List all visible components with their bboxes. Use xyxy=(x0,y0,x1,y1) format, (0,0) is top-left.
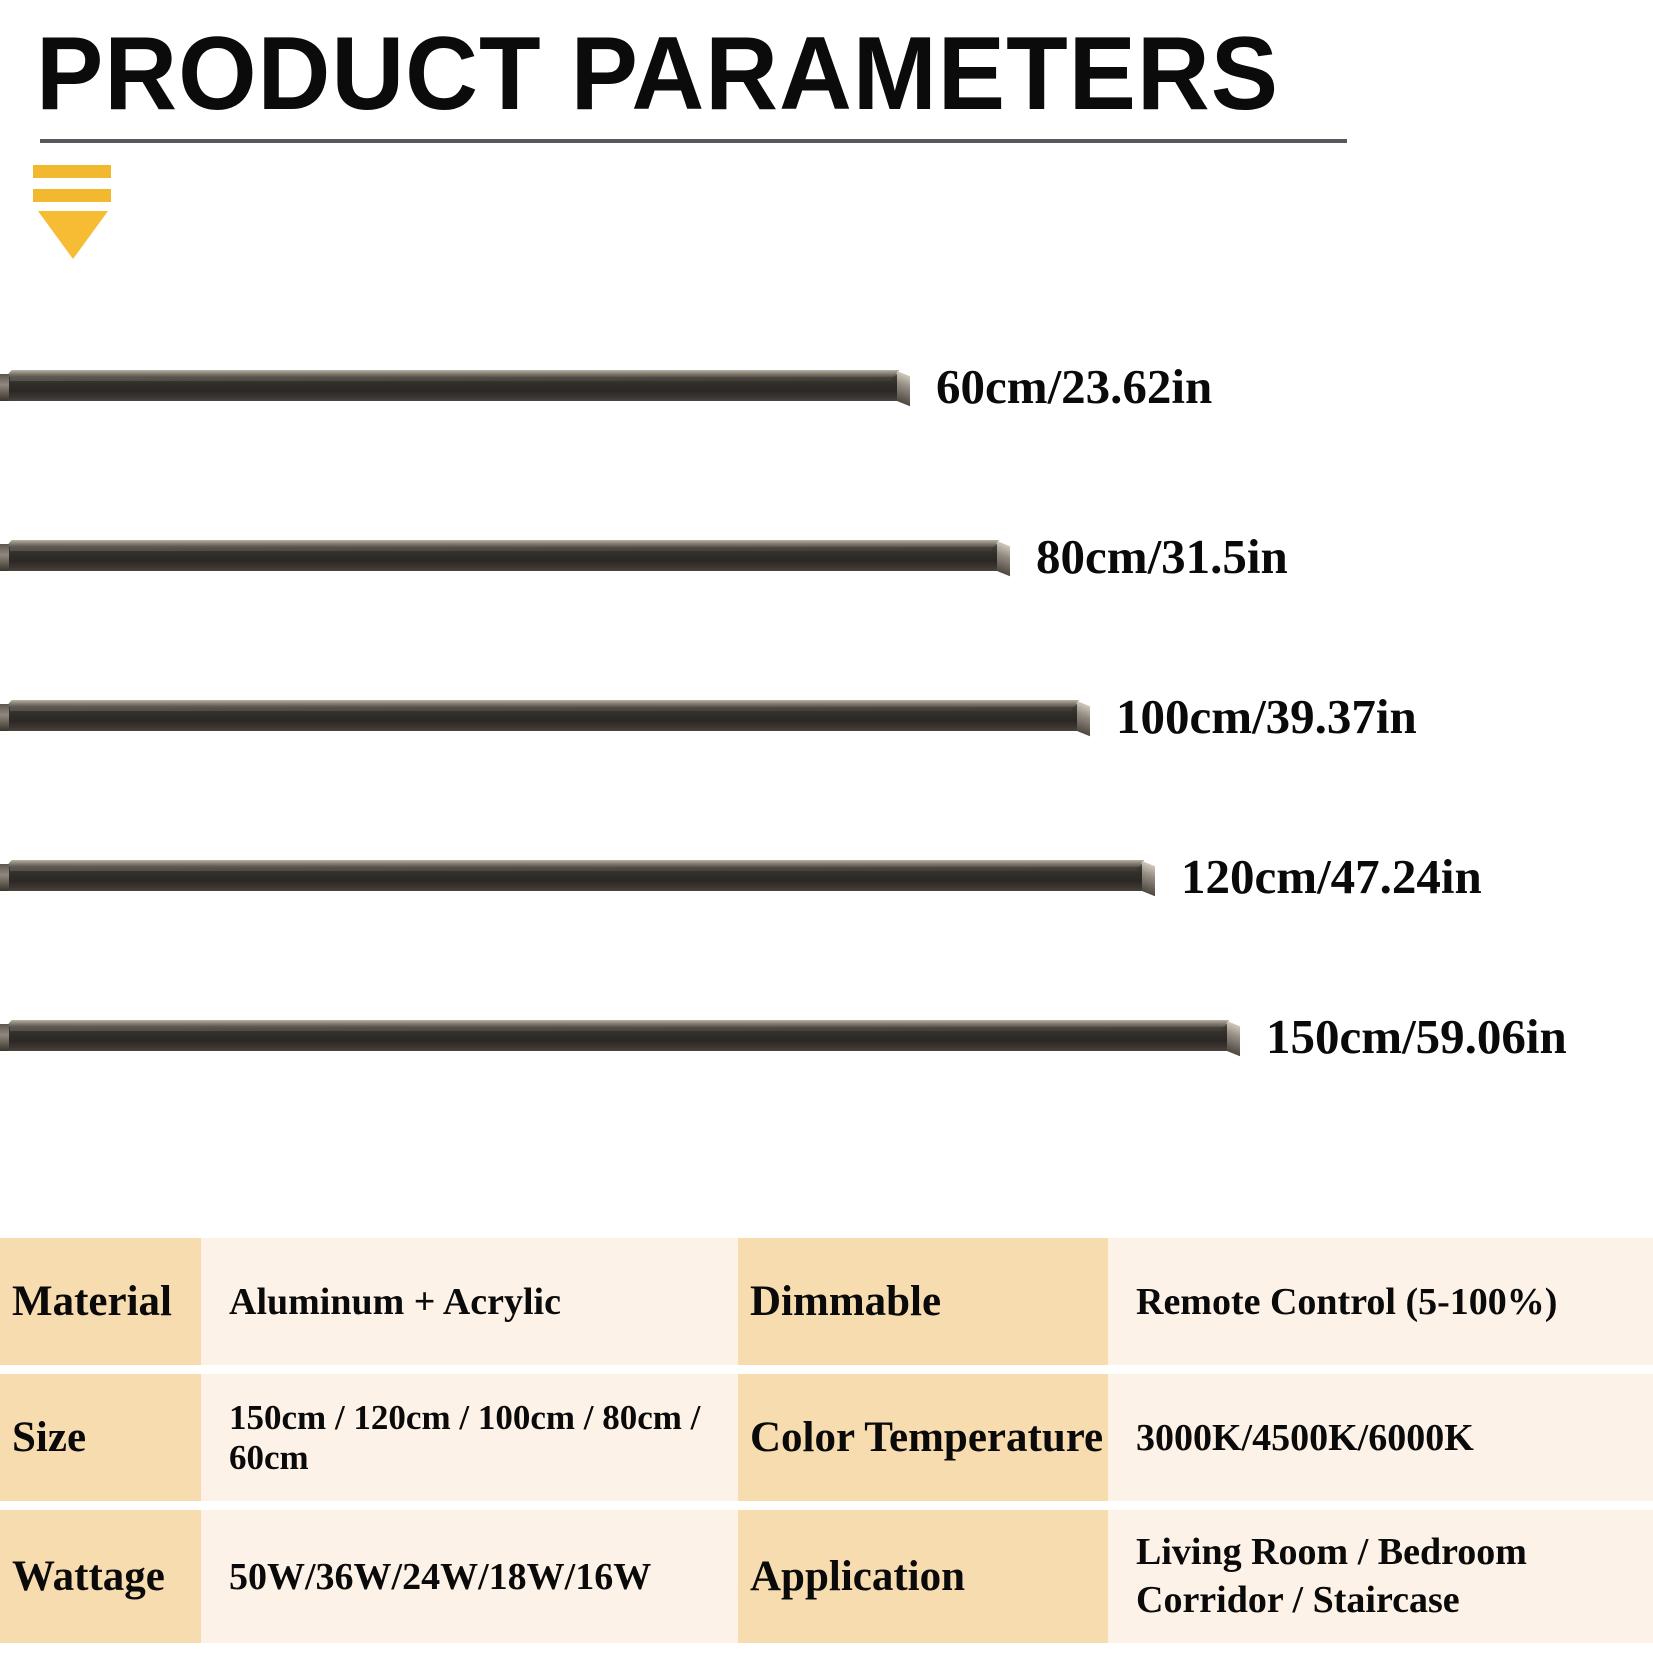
spec-row-wattage: Wattage 50W/36W/24W/18W/16W Application … xyxy=(0,1510,1653,1643)
spec-value-color-temperature: 3000K/4500K/6000K xyxy=(1108,1374,1653,1501)
spec-row-material: Material Aluminum + Acrylic Dimmable Rem… xyxy=(0,1238,1653,1365)
spec-key-wattage: Wattage xyxy=(0,1510,201,1643)
spec-key-size: Size xyxy=(0,1374,201,1501)
spec-key-application: Application xyxy=(738,1510,1108,1643)
size-label: 120cm/47.24in xyxy=(1181,852,1482,901)
spec-value-application: Living Room / Bedroom Corridor / Stairca… xyxy=(1108,1510,1653,1643)
spec-table: Material Aluminum + Acrylic Dimmable Rem… xyxy=(0,1238,1653,1643)
spec-key-dimmable: Dimmable xyxy=(738,1238,1108,1365)
spec-value-application-line2: Corridor / Staircase xyxy=(1136,1580,1527,1621)
ornament-triangle xyxy=(38,211,108,259)
spec-value-material: Aluminum + Acrylic xyxy=(201,1238,738,1365)
light-bar-graphic xyxy=(0,367,910,405)
page-title: PRODUCT PARAMETERS xyxy=(36,22,1279,126)
spec-value-application-line1: Living Room / Bedroom xyxy=(1136,1532,1527,1573)
size-label: 60cm/23.62in xyxy=(936,362,1212,411)
down-arrow-ornament-icon xyxy=(33,165,117,257)
spec-key-material: Material xyxy=(0,1238,201,1365)
size-row: 100cm/39.37in xyxy=(0,686,1653,746)
size-label: 80cm/31.5in xyxy=(1036,532,1288,581)
light-bar-graphic xyxy=(0,697,1090,735)
ornament-bar-bottom xyxy=(33,189,111,202)
size-row: 120cm/47.24in xyxy=(0,846,1653,906)
ornament-bar-top xyxy=(33,165,111,178)
light-bar-graphic xyxy=(0,1017,1240,1055)
spec-key-color-temperature: Color Temperature xyxy=(738,1374,1108,1501)
size-label: 150cm/59.06in xyxy=(1266,1012,1567,1061)
product-parameters-page: PRODUCT PARAMETERS 60cm/23.62in 80cm/31.… xyxy=(0,0,1653,1653)
spec-value-dimmable: Remote Control (5-100%) xyxy=(1108,1238,1653,1365)
spec-value-wattage: 50W/36W/24W/18W/16W xyxy=(201,1510,738,1643)
size-row: 150cm/59.06in xyxy=(0,1006,1653,1066)
spec-value-size: 150cm / 120cm / 100cm / 80cm / 60cm xyxy=(201,1374,738,1501)
spec-row-size: Size 150cm / 120cm / 100cm / 80cm / 60cm… xyxy=(0,1374,1653,1501)
title-underline-rule xyxy=(40,139,1347,143)
size-row: 60cm/23.62in xyxy=(0,356,1653,416)
size-label: 100cm/39.37in xyxy=(1116,692,1417,741)
light-bar-graphic xyxy=(0,537,1010,575)
light-bar-graphic xyxy=(0,857,1155,895)
size-comparison-group: 60cm/23.62in 80cm/31.5in 100cm/39.37in 1… xyxy=(0,300,1653,1220)
size-row: 80cm/31.5in xyxy=(0,526,1653,586)
